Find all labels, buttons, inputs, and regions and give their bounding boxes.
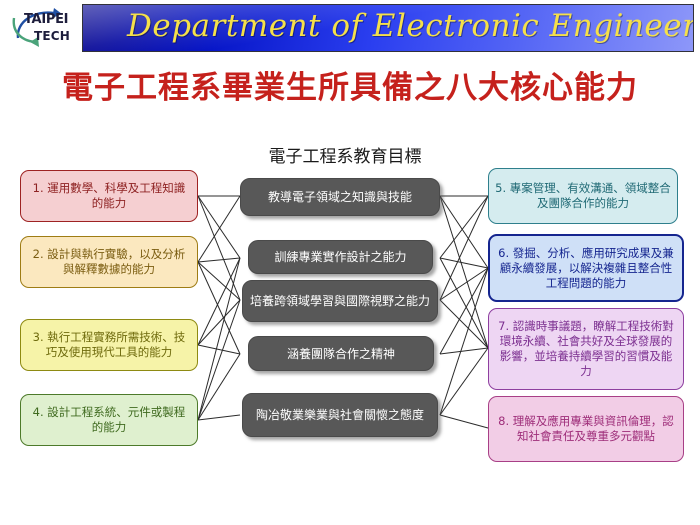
goal-box-1[interactable]: 教導電子領域之知識與技能 — [240, 178, 440, 216]
capability-box-5[interactable]: 5. 專案管理、有效溝通、領域整合及團隊合作的能力 — [488, 168, 678, 224]
capability-box-8[interactable]: 8. 理解及應用專業與資訊倫理，認知社會責任及尊重多元觀點 — [488, 396, 684, 462]
capability-box-6[interactable]: 6. 發掘、分析、應用研究成果及兼顧永續發展，以解決複雜且整合性工程問題的能力 — [488, 234, 684, 302]
goal-label-1: 教導電子領域之知識與技能 — [247, 189, 433, 205]
capability-label-6: 6. 發掘、分析、應用研究成果及兼顧永續發展，以解決複雜且整合性工程問題的能力 — [496, 246, 676, 291]
capability-box-1[interactable]: 1. 運用數學、科學及工程知識的能力 — [20, 170, 198, 222]
capability-label-7: 7. 認識時事議題，瞭解工程技術對環境永續、社會共好及全球發展的影響，並培養持續… — [495, 319, 677, 379]
goal-label-5: 陶冶敬業樂業與社會關懷之態度 — [249, 407, 431, 423]
goal-box-3[interactable]: 培養跨領域學習與國際視野之能力 — [242, 280, 438, 322]
goal-box-2[interactable]: 訓練專業實作設計之能力 — [248, 240, 433, 274]
goal-label-3: 培養跨領域學習與國際視野之能力 — [249, 293, 431, 309]
capability-box-7[interactable]: 7. 認識時事議題，瞭解工程技術對環境永續、社會共好及全球發展的影響，並培養持續… — [488, 308, 684, 390]
capability-box-2[interactable]: 2. 設計與執行實驗，以及分析與解釋數據的能力 — [20, 236, 198, 288]
slide-canvas: TAIPEI TECH Department of Electronic Eng… — [0, 0, 700, 525]
capability-label-4: 4. 設計工程系統、元件或製程的能力 — [27, 405, 191, 435]
goal-box-4[interactable]: 涵養團隊合作之精神 — [248, 336, 434, 371]
capability-box-4[interactable]: 4. 設計工程系統、元件或製程的能力 — [20, 394, 198, 446]
capability-label-2: 2. 設計與執行實驗，以及分析與解釋數據的能力 — [27, 247, 191, 277]
goal-label-2: 訓練專業實作設計之能力 — [255, 249, 426, 265]
capability-box-3[interactable]: 3. 執行工程實務所需技術、技巧及使用現代工具的能力 — [20, 319, 198, 371]
capability-label-1: 1. 運用數學、科學及工程知識的能力 — [27, 181, 191, 211]
capability-label-8: 8. 理解及應用專業與資訊倫理，認知社會責任及尊重多元觀點 — [495, 414, 677, 444]
banner-title: Department of Electronic Engineering — [127, 8, 694, 44]
capability-label-5: 5. 專案管理、有效溝通、領域整合及團隊合作的能力 — [495, 181, 671, 211]
capability-label-3: 3. 執行工程實務所需技術、技巧及使用現代工具的能力 — [27, 330, 191, 360]
goal-box-5[interactable]: 陶冶敬業樂業與社會關懷之態度 — [242, 393, 438, 437]
goal-label-4: 涵養團隊合作之精神 — [255, 346, 427, 362]
